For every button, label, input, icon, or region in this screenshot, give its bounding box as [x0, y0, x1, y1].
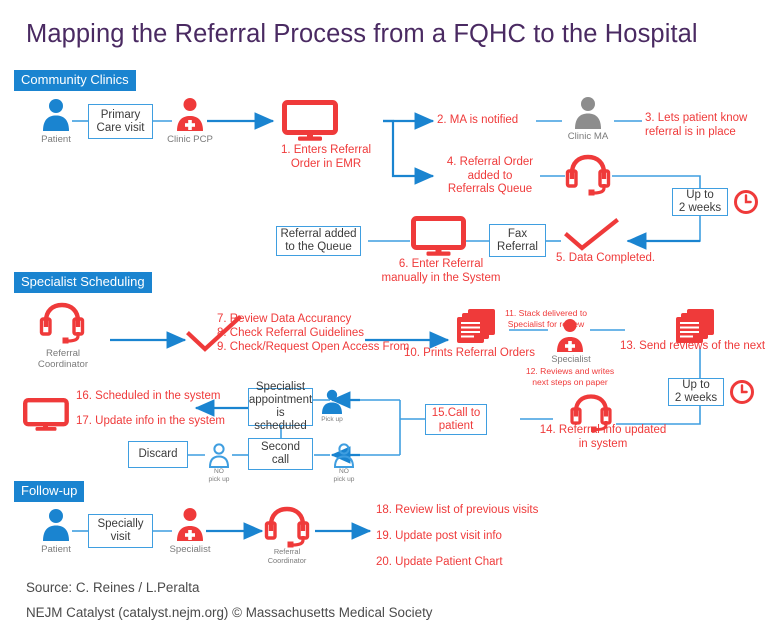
step-18-label: 18. Review list of previous visits: [376, 504, 656, 518]
step-7-label: 7. Review Data Accurancy: [217, 313, 417, 327]
step-2-label: 2. MA is notified: [437, 114, 542, 128]
clinic-ma-label: Clinic MA: [556, 131, 620, 142]
source-line-1: Source: C. Reines / L.Peralta: [26, 579, 199, 596]
call-to-patient-box: 15.Call to patient: [425, 404, 487, 435]
doctor-icon: [172, 507, 208, 543]
section-header-specialist-scheduling: Specialist Scheduling: [14, 272, 152, 293]
step-16-label: 16. Scheduled in the system: [76, 390, 256, 404]
monitor-icon: [23, 398, 69, 432]
step-13-label: 13. Send reviews of the next steps: [620, 340, 768, 354]
step-9-label: 9. Check/Request Open Access From: [217, 341, 427, 355]
no-pick-up-label-1: NO pick up: [199, 468, 239, 483]
primary-care-visit-box: Primary Care visit: [88, 104, 153, 139]
patient-icon: [36, 98, 76, 132]
clock-icon: [733, 189, 759, 215]
monitor-icon: [282, 100, 338, 142]
patient-label: Patient: [26, 134, 86, 145]
patient-icon: [36, 508, 76, 542]
no-pick-up-label-2: NO pick up: [324, 468, 364, 483]
pick-up-label: Pick up: [312, 416, 352, 424]
step-4-label: 4. Referral Order added to Referrals Que…: [437, 156, 543, 197]
step-17-label: 17. Update info in the system: [76, 415, 256, 429]
source-line-2: NEJM Catalyst (catalyst.nejm.org) © Mass…: [26, 604, 433, 621]
specially-visit-box: Specially visit: [88, 514, 153, 548]
step-6-label: 6. Enter Referral manually in the System: [377, 258, 505, 285]
doctor-icon: [172, 97, 208, 133]
step-3-label: 3. Lets patient know referral is in plac…: [645, 112, 765, 139]
clinic-pcp-label: Clinic PCP: [158, 134, 222, 145]
step-14-label: 14. Referral info updated in system: [523, 424, 683, 451]
section-header-follow-up: Follow-up: [14, 481, 84, 502]
specialist-label: Specialist: [158, 544, 222, 555]
second-call-box: Second call: [248, 438, 313, 470]
person-icon: [317, 389, 347, 415]
headset-icon: [37, 300, 87, 346]
specialist-appointment-box: Specialist appointment is scheduled: [248, 388, 313, 426]
person-gray-icon: [568, 96, 608, 130]
referral-added-queue-box: Referral added to the Queue: [276, 226, 361, 256]
doctor-icon: [552, 318, 588, 354]
headset-icon: [262, 504, 312, 550]
step-1-label: 1. Enters Referral Order in EMR: [271, 144, 381, 171]
patient-label: Patient: [26, 544, 86, 555]
discard-box: Discard: [128, 441, 188, 468]
step-12-label: 12. Reviews and writes next steps on pap…: [496, 366, 644, 387]
person-outline-icon: [205, 443, 233, 468]
step-19-label: 19. Update post visit info: [376, 530, 656, 544]
page-title: Mapping the Referral Process from a FQHC…: [26, 20, 726, 49]
referral-coordinator-label: Referral Coordinator: [251, 548, 323, 565]
fax-referral-box: Fax Referral: [489, 224, 546, 257]
step-5-label: 5. Data Completed.: [556, 252, 686, 266]
monitor-icon: [411, 216, 466, 258]
specialist-label: Specialist: [538, 354, 604, 365]
headset-icon: [563, 152, 613, 198]
checkmark-icon: [563, 218, 621, 252]
diagram-canvas: Mapping the Referral Process from a FQHC…: [0, 0, 768, 641]
wait-box-2: Up to 2 weeks: [668, 378, 724, 406]
clock-icon: [729, 379, 755, 405]
referral-coordinator-label: Referral Coordinator: [27, 348, 99, 370]
step-8-label: 8. Check Referral Guidelines: [217, 327, 417, 341]
section-header-community-clinics: Community Clinics: [14, 70, 136, 91]
wait-box-1: Up to 2 weeks: [672, 188, 728, 216]
step-20-label: 20. Update Patient Chart: [376, 556, 656, 570]
person-outline-icon: [330, 443, 358, 468]
